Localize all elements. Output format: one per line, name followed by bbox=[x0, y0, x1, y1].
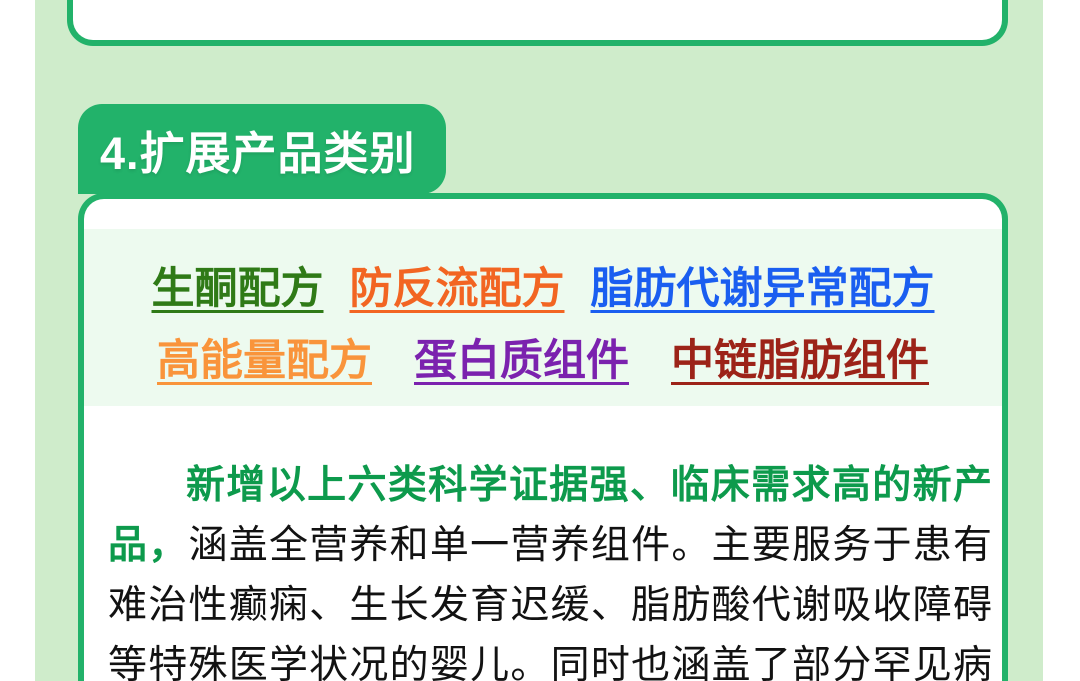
keyword-danbaizhi-zujian: 蛋白质组件 bbox=[414, 326, 629, 388]
section-card: 生酮配方 防反流配方 脂肪代谢异常配方 高能量配方 蛋白质组件 中链脂肪组件 新… bbox=[78, 193, 1008, 681]
keyword-row-1: 生酮配方 防反流配方 脂肪代谢异常配方 bbox=[84, 254, 1002, 316]
keyword-gaonengliang-peifang: 高能量配方 bbox=[157, 326, 372, 388]
poster-page: 4.扩展产品类别 生酮配方 防反流配方 脂肪代谢异常配方 高能量配方 蛋白质组件… bbox=[0, 0, 1080, 681]
keyword-zhifangdaixie-yichang-peifang: 脂肪代谢异常配方 bbox=[591, 254, 935, 316]
section-tab-label: 4.扩展产品类别 bbox=[78, 117, 416, 182]
keyword-fangfanliu-peifang: 防反流配方 bbox=[350, 254, 565, 316]
keyword-row-2: 高能量配方 蛋白质组件 中链脂肪组件 bbox=[84, 326, 1002, 388]
keyword-panel: 生酮配方 防反流配方 脂肪代谢异常配方 高能量配方 蛋白质组件 中链脂肪组件 bbox=[84, 229, 1002, 406]
body-rest-sentence: 涵盖全营养和单一营养组件。主要服务于患有难治性癫痫、生长发育迟缓、脂肪酸代谢吸收… bbox=[108, 524, 992, 681]
keyword-zhonglian-zhifang-zujian: 中链脂肪组件 bbox=[671, 326, 929, 388]
keyword-shengtong-peifang: 生酮配方 bbox=[152, 254, 324, 316]
section-tab-4[interactable]: 4.扩展产品类别 bbox=[78, 104, 446, 194]
section-body-paragraph: 新增以上六类科学证据强、临床需求高的新产品，涵盖全营养和单一营养组件。主要服务于… bbox=[108, 456, 992, 681]
previous-section-card-tail bbox=[67, 0, 1008, 46]
